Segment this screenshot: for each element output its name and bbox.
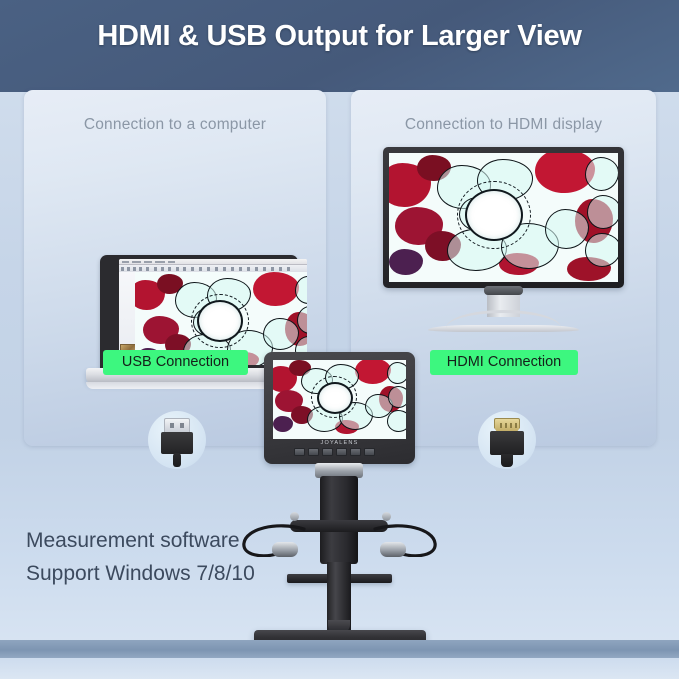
desk-surface-band (0, 640, 679, 658)
usb-plug-body (161, 432, 193, 454)
hdmi-connection-badge: HDMI Connection (430, 350, 578, 375)
microscopy-sample-image (389, 153, 618, 282)
footer-text: Measurement software Support Windows 7/8… (26, 524, 296, 590)
monitor-stand (428, 313, 579, 332)
hdmi-connector-icon (478, 411, 536, 469)
usb-plug-head (164, 418, 190, 433)
monitor-screen (389, 153, 618, 282)
microscope-button-row[interactable] (294, 448, 386, 456)
focus-knob-left[interactable] (290, 512, 299, 521)
hdmi-cable (501, 454, 513, 467)
panel-hdmi-title: Connection to HDMI display (351, 116, 656, 134)
page-title: HDMI & USB Output for Larger View (0, 20, 679, 53)
footer-line-2: Support Windows 7/8/10 (26, 557, 296, 590)
infographic-stage: HDMI & USB Output for Larger View Connec… (0, 0, 679, 679)
monitor-neck-cap (484, 286, 523, 295)
microscope-display: JOYALENS (264, 352, 415, 464)
microscope-brand-label: JOYALENS (264, 440, 415, 446)
usb-connector-icon (148, 411, 206, 469)
panel-computer-title: Connection to a computer (24, 116, 326, 134)
hdmi-monitor-device (383, 147, 624, 332)
footer-line-1: Measurement software (26, 524, 296, 557)
microscope-screen (273, 360, 406, 439)
focus-knob-right[interactable] (382, 512, 391, 521)
hdmi-plug-head (494, 418, 520, 432)
led-light-right (380, 542, 406, 557)
desk-front-band (0, 658, 679, 679)
digital-microscope-product: JOYALENS (232, 352, 447, 652)
microscopy-sample-image (273, 360, 406, 439)
hdmi-plug-body (490, 431, 524, 455)
usb-cable (173, 453, 181, 467)
usb-connection-badge: USB Connection (103, 350, 248, 375)
